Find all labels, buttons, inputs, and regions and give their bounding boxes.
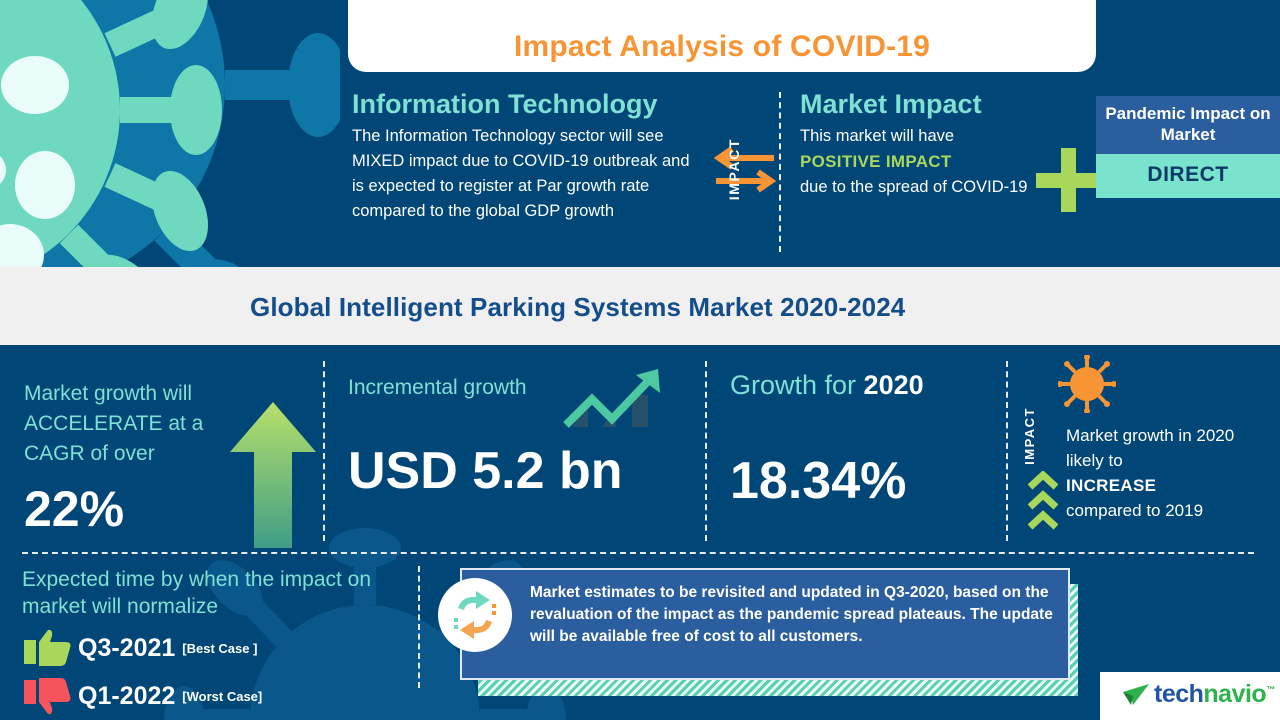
infographic-root: Impact Analysis of COVID-19 Information … xyxy=(0,0,1280,720)
sector-information-technology: Information Technology The Information T… xyxy=(352,88,702,224)
note-text: Market estimates to be revisited and upd… xyxy=(530,582,1054,648)
technavio-arrow-icon xyxy=(1122,683,1150,707)
refresh-cycle-icon xyxy=(438,578,512,652)
case-quarter: Q1-2022 xyxy=(78,682,175,711)
sector-body: The Information Technology sector will s… xyxy=(352,124,702,224)
case-tag: [Worst Case] xyxy=(182,689,262,704)
stat-value: 22% xyxy=(24,481,254,537)
market-title-text: Global Intelligent Parking Systems Marke… xyxy=(250,292,905,323)
plus-icon xyxy=(1036,148,1100,212)
chevrons-up-icon xyxy=(1026,471,1060,531)
thumbs-up-icon xyxy=(22,628,74,668)
trend-up-icon xyxy=(558,367,668,439)
logo-text-tech: tech xyxy=(1154,680,1203,708)
market-impact-line3: due to the spread of COVID-19 xyxy=(800,178,1027,196)
stat-label: Market growth will ACCELERATE at a CAGR … xyxy=(24,379,254,469)
arrow-up-icon xyxy=(228,400,318,548)
corona-virus-illustration xyxy=(0,0,340,300)
logo-trademark: ™ xyxy=(1266,685,1275,695)
stat-label-prefix: Growth for xyxy=(730,370,864,400)
brand-logo[interactable]: technavio™ xyxy=(1100,672,1280,720)
impact-vertical-label-2: IMPACT xyxy=(1022,407,1037,465)
note-box: Market estimates to be revisited and upd… xyxy=(460,568,1070,680)
pandemic-impact-panel: Pandemic Impact on Market DIRECT xyxy=(1096,96,1280,198)
sector-market-impact: Market Impact This market will have POSI… xyxy=(800,88,1030,200)
divider-vertical xyxy=(418,566,420,688)
impact-text-highlight: INCREASE xyxy=(1066,476,1156,495)
stat-label-year: 2020 xyxy=(864,370,924,400)
impact-vertical-label: IMPACT xyxy=(726,138,742,200)
sector-heading: Market Impact xyxy=(800,88,1030,120)
sector-heading: Information Technology xyxy=(352,88,702,120)
case-quarter: Q3-2021 xyxy=(78,634,175,663)
market-impact-line1: This market will have xyxy=(800,127,954,145)
case-tag: [Best Case ] xyxy=(182,641,257,656)
coronavirus-icon xyxy=(1058,355,1116,413)
stat-growth-2020: Growth for 2020 18.34% xyxy=(730,369,1000,509)
stat-cagr: Market growth will ACCELERATE at a CAGR … xyxy=(24,379,254,537)
divider-vertical xyxy=(1006,361,1008,541)
stats-row: Market growth will ACCELERATE at a CAGR … xyxy=(0,345,1280,552)
thumbs-down-icon xyxy=(22,676,74,716)
stat-value: 18.34% xyxy=(730,453,1000,509)
pandemic-impact-value: DIRECT xyxy=(1096,154,1280,198)
divider-horizontal xyxy=(22,552,1254,554)
impact-text-after: compared to 2019 xyxy=(1066,501,1203,520)
divider-vertical xyxy=(705,361,707,541)
impact-text-before: Market growth in 2020 likely to xyxy=(1066,426,1234,470)
case-row-worst: Q1-2022 [Worst Case] xyxy=(22,676,422,716)
divider-vertical xyxy=(323,361,325,541)
page-title-text: Impact Analysis of COVID-19 xyxy=(514,30,930,64)
page-title: Impact Analysis of COVID-19 xyxy=(348,0,1096,72)
bidirectional-arrows-icon xyxy=(706,100,786,250)
divider-vertical xyxy=(779,92,781,252)
logo-text-navio: navio xyxy=(1203,680,1266,708)
normalize-heading: Expected time by when the impact on mark… xyxy=(22,566,422,620)
normalize-block: Expected time by when the impact on mark… xyxy=(22,566,422,716)
pandemic-impact-heading: Pandemic Impact on Market xyxy=(1096,96,1280,154)
case-row-best: Q3-2021 [Best Case ] xyxy=(22,628,422,668)
stat-impact-2020: Market growth in 2020 likely to INCREASE… xyxy=(1066,423,1274,523)
stat-value: USD 5.2 bn xyxy=(348,443,678,499)
market-impact-highlight: POSITIVE IMPACT xyxy=(800,152,952,171)
